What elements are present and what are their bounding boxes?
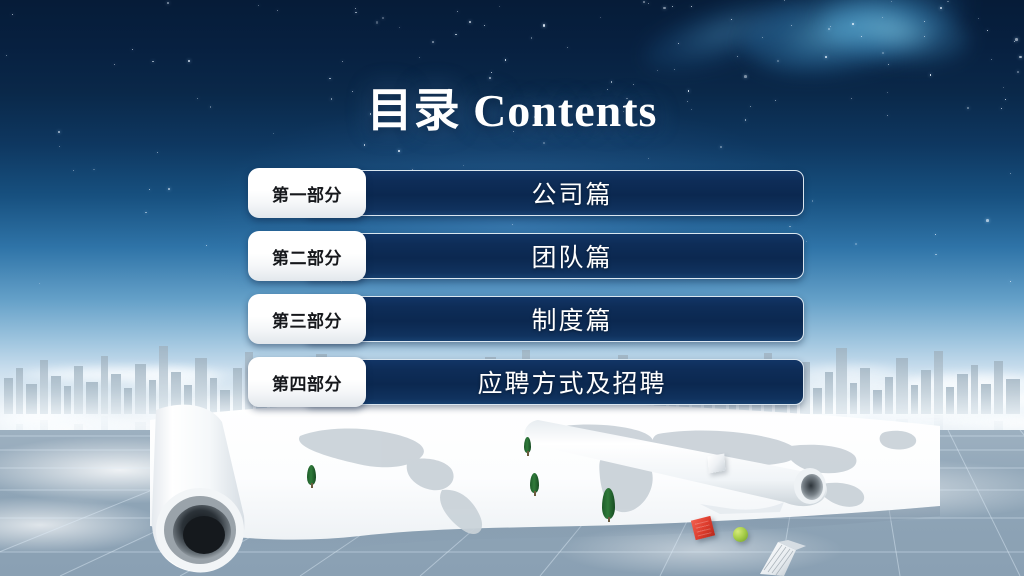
- contents-bar-4[interactable]: 应聘方式及招聘: [304, 359, 804, 405]
- page-title-cn: 目录: [367, 83, 461, 137]
- contents-index-label-4: 第四部分: [272, 370, 342, 395]
- contents-bar-3[interactable]: 制度篇: [304, 296, 804, 342]
- contents-title-4: 应聘方式及招聘: [441, 364, 666, 400]
- contents-list: 公司篇 第一部分 团队篇 第二部分 制度篇 第三部分 应聘方式及招聘: [248, 170, 804, 405]
- contents-title-2: 团队篇: [495, 238, 612, 274]
- contents-row-1[interactable]: 公司篇 第一部分: [248, 170, 804, 216]
- contents-index-pill-1[interactable]: 第一部分: [248, 168, 366, 218]
- contents-bar-2[interactable]: 团队篇: [304, 233, 804, 279]
- contents-title-3: 制度篇: [495, 301, 612, 337]
- contents-index-pill-2[interactable]: 第二部分: [248, 231, 366, 281]
- page-title-en: Contents: [473, 85, 657, 136]
- contents-row-2[interactable]: 团队篇 第二部分: [248, 233, 804, 279]
- contents-index-pill-3[interactable]: 第三部分: [248, 294, 366, 344]
- contents-title-1: 公司篇: [495, 175, 612, 211]
- contents-bar-1[interactable]: 公司篇: [304, 170, 804, 216]
- contents-row-3[interactable]: 制度篇 第三部分: [248, 296, 804, 342]
- page-title: 目录 Contents: [0, 74, 1024, 140]
- contents-index-pill-4[interactable]: 第四部分: [248, 357, 366, 407]
- contents-index-label-1: 第一部分: [272, 181, 342, 206]
- contents-index-label-2: 第二部分: [272, 244, 342, 269]
- presentation-slide: 目录 Contents 公司篇 第一部分 团队篇 第二部分 制度篇 第三部: [0, 0, 1024, 576]
- contents-row-4[interactable]: 应聘方式及招聘 第四部分: [248, 359, 804, 405]
- contents-index-label-3: 第三部分: [272, 307, 342, 332]
